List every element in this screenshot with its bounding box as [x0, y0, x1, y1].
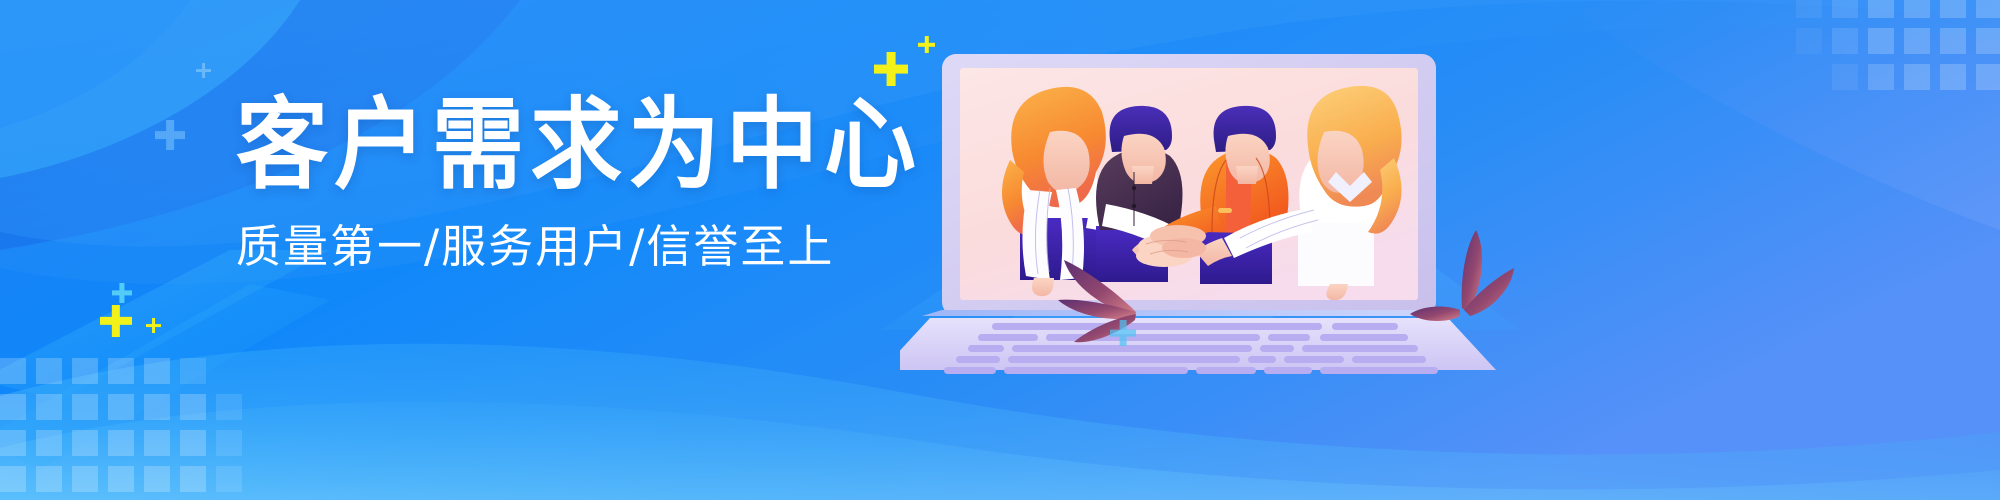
plus-yellow-large [874, 52, 908, 86]
plus-cyan-mid [1110, 320, 1136, 346]
plus-yellow-bottom-small [146, 318, 161, 333]
plus-soft-top [196, 63, 211, 78]
laptop-base-keyboard [900, 310, 1496, 374]
banner-copy: 客户需求为中心 质量第一/服务用户/信誉至上 [236, 96, 936, 269]
plus-yellow-small [918, 36, 935, 53]
banner-subheadline: 质量第一/服务用户/信誉至上 [236, 224, 936, 269]
square-grid-bottom-left [0, 358, 242, 492]
promo-banner: 客户需求为中心 质量第一/服务用户/信誉至上 [0, 0, 2000, 500]
plus-yellow-bottom [100, 305, 132, 337]
laptop-team-illustration [900, 40, 1700, 380]
banner-headline: 客户需求为中心 [236, 96, 936, 195]
square-grid-top-right [1796, 0, 2000, 90]
plus-soft-left [155, 120, 185, 150]
plus-cyan-bottom [112, 283, 132, 303]
